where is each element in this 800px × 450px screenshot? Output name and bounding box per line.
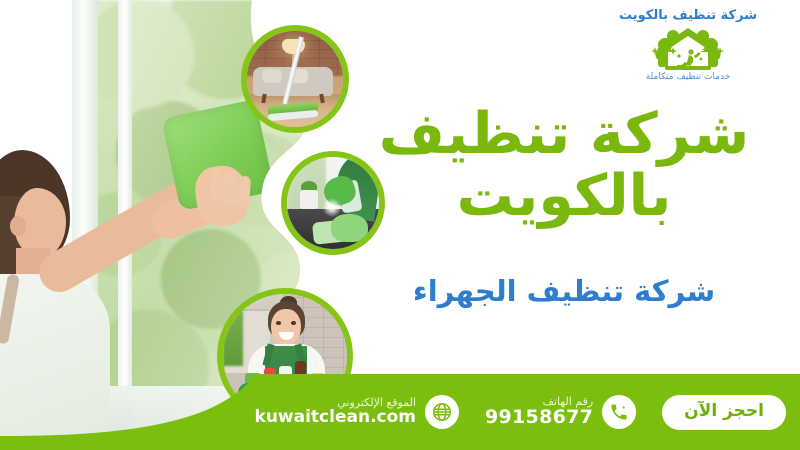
woman-finger bbox=[237, 176, 251, 209]
website-text: الموقع الإلكتروني kuwaitclean.com bbox=[255, 397, 416, 426]
woman-finger bbox=[223, 170, 237, 206]
woman-ear bbox=[10, 216, 26, 236]
logo-title: شركة تنظيف بالكويت bbox=[600, 8, 776, 23]
woman-torso bbox=[0, 274, 110, 450]
green-foliage bbox=[223, 294, 243, 366]
sofa-cushion bbox=[262, 69, 281, 82]
globe-icon bbox=[425, 395, 459, 429]
living-room-mopping-photo bbox=[241, 25, 349, 133]
contact-bar-content: احجز الآن رقم الهاتف 99158677 bbox=[255, 374, 786, 450]
logo-tagline: خدمات تنظيف متكاملة bbox=[600, 72, 776, 82]
page-title: شركة تنظيف بالكويت bbox=[354, 104, 774, 227]
website-url: kuwaitclean.com bbox=[255, 409, 416, 427]
company-logo: شركة تنظيف بالكويت bbox=[600, 8, 776, 82]
phone-icon bbox=[602, 395, 636, 429]
cleaning-company-banner: شركة تنظيف بالكويت bbox=[0, 0, 800, 450]
book-now-button[interactable]: احجز الآن bbox=[662, 395, 786, 430]
house-cleaning-icon bbox=[651, 25, 725, 71]
headline-line-1: شركة تنظيف bbox=[354, 104, 774, 166]
headline-line-2: بالكويت bbox=[354, 166, 774, 228]
phone-text: رقم الهاتف 99158677 bbox=[485, 396, 593, 427]
living-room-scene bbox=[247, 31, 343, 127]
woman-face bbox=[271, 309, 301, 346]
phone-contact[interactable]: رقم الهاتف 99158677 bbox=[485, 395, 636, 429]
website-contact[interactable]: الموقع الإلكتروني kuwaitclean.com bbox=[255, 395, 459, 429]
page-subtitle: شركة تنظيف الجهراء bbox=[354, 276, 774, 308]
phone-number: 99158677 bbox=[485, 408, 593, 428]
plant-pot bbox=[300, 190, 318, 208]
